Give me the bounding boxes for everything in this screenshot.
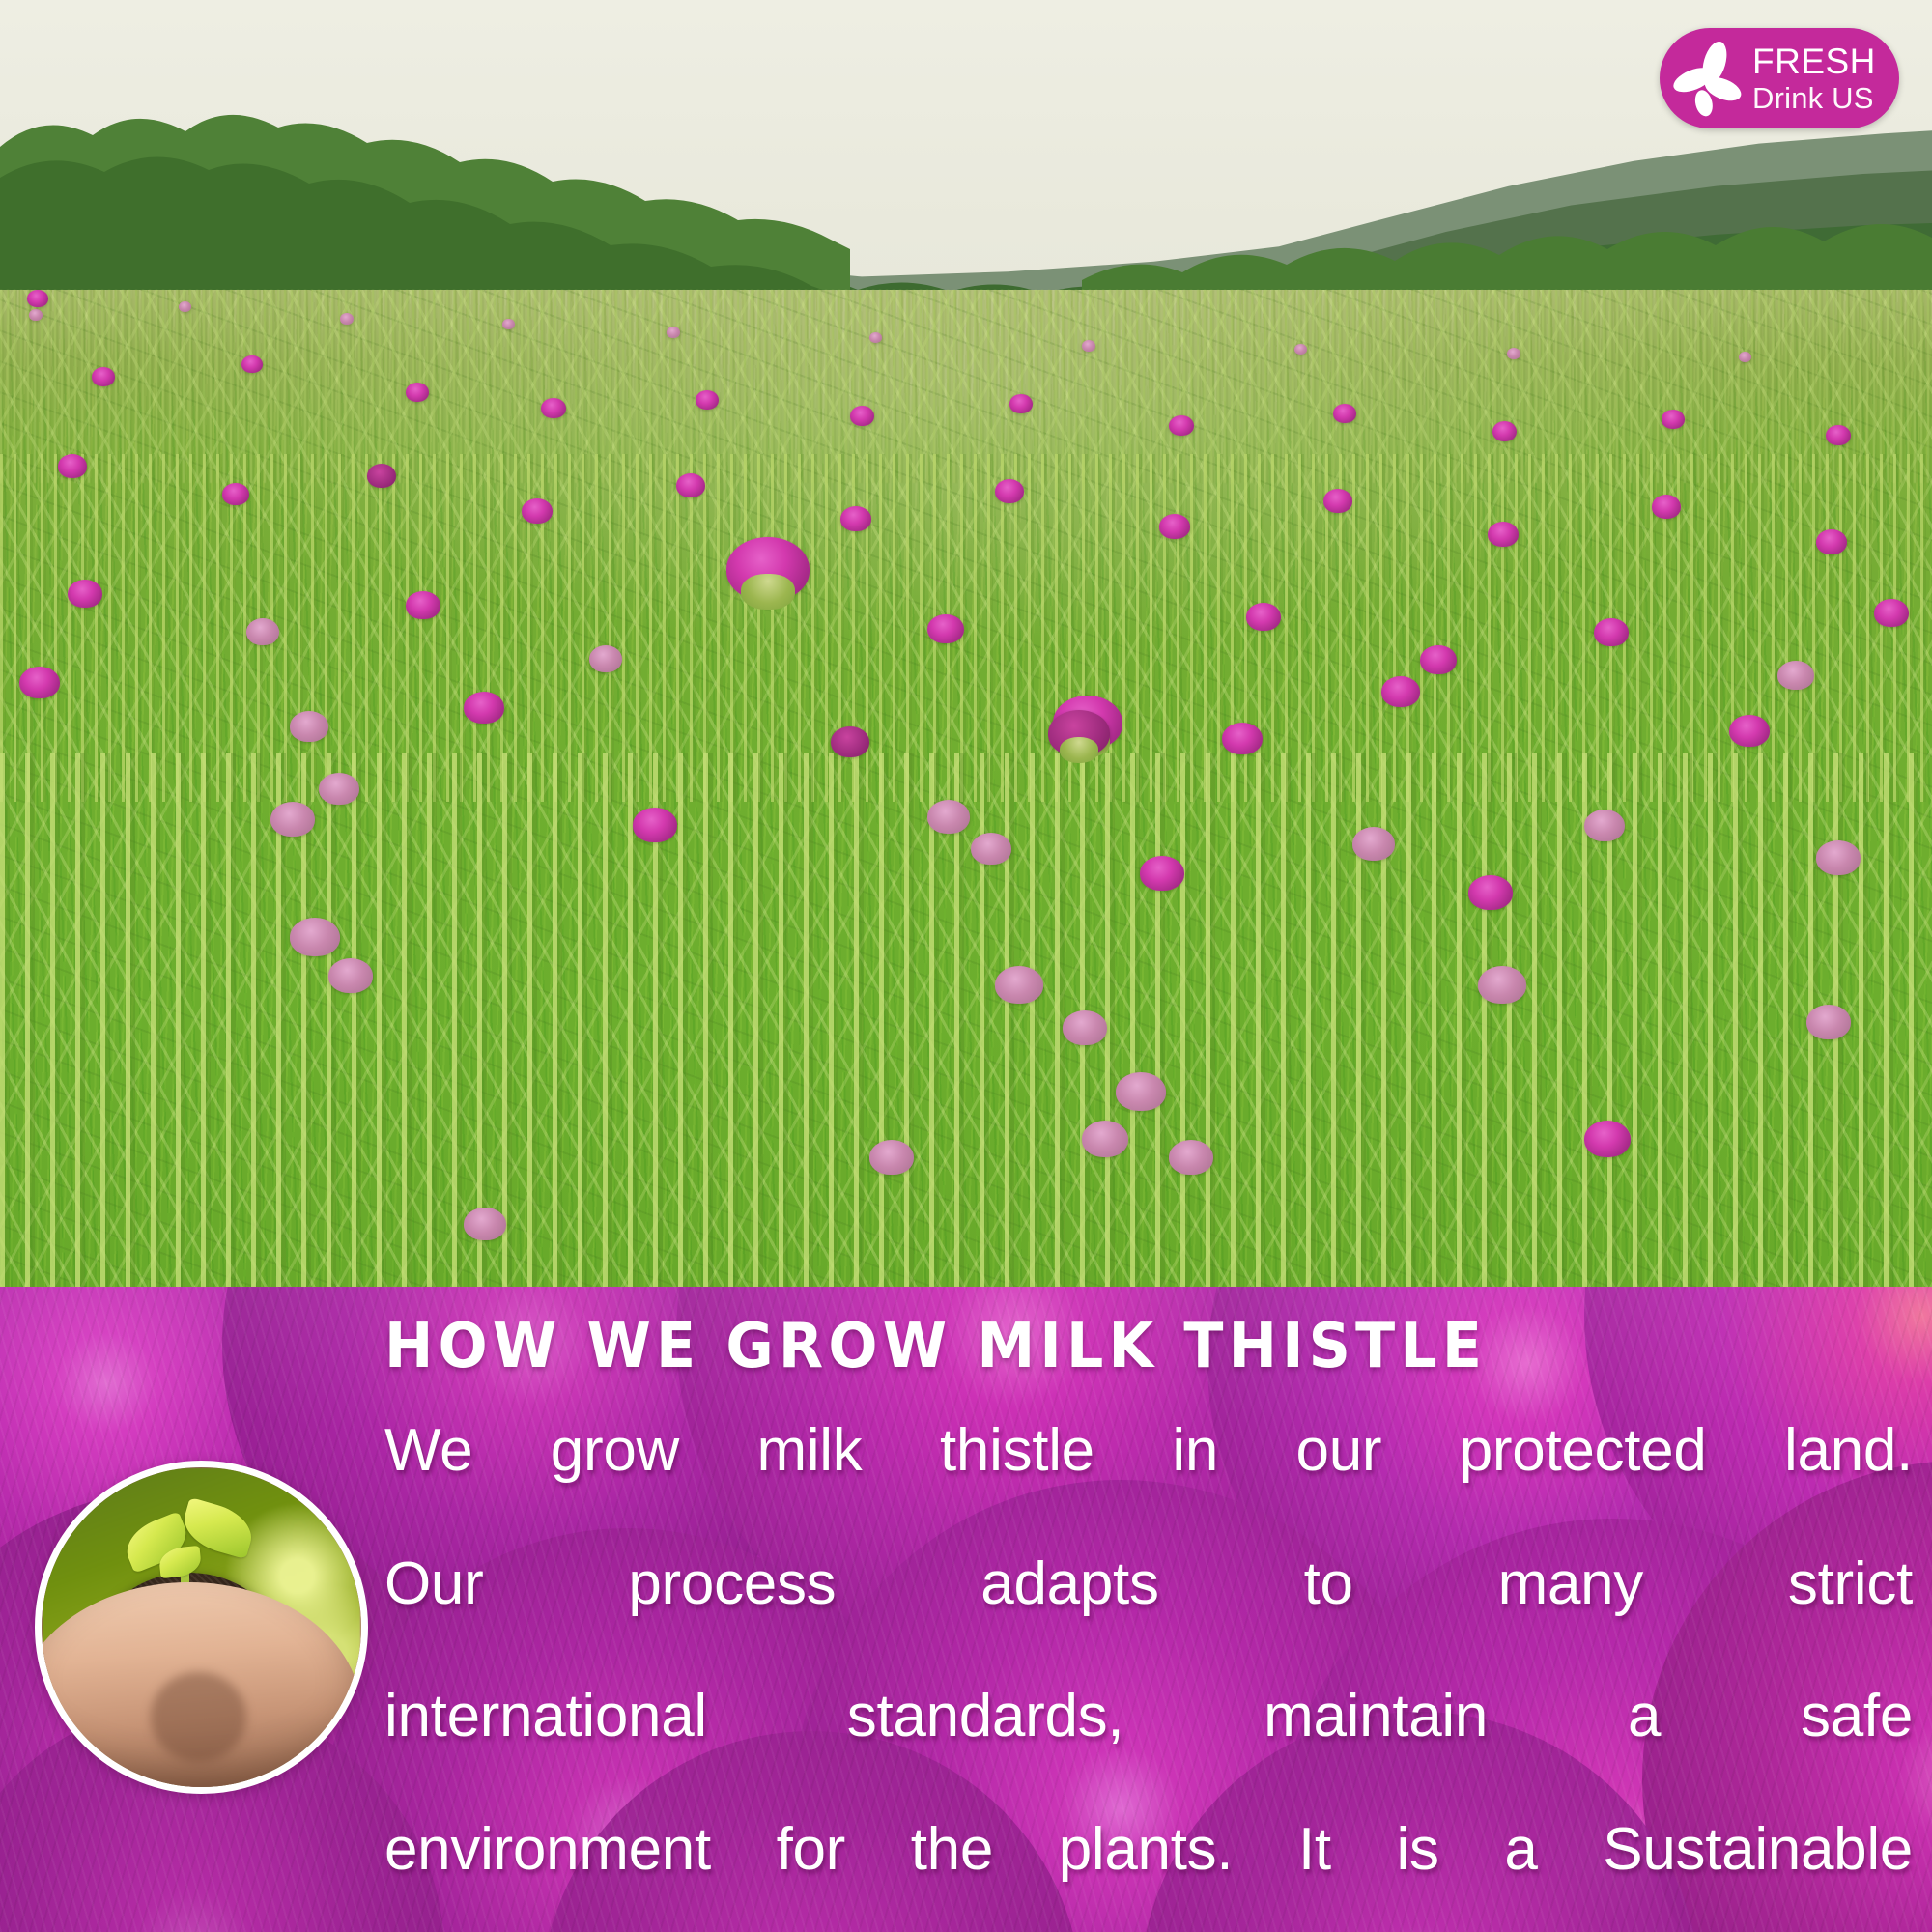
- thistle-bloom: [1159, 514, 1190, 539]
- thistle-bloom: [1009, 394, 1033, 413]
- thistle-bloom: [522, 498, 553, 524]
- four-petal-leaf-icon: [1667, 37, 1750, 120]
- thistle-bloom: [464, 692, 504, 724]
- thistle-bloom: [1806, 1005, 1851, 1039]
- thistle-bloom: [290, 711, 328, 742]
- thistle-bloom: [869, 1140, 914, 1175]
- thistle-bloom: [1777, 661, 1814, 690]
- thistle-bloom: [1333, 404, 1356, 423]
- page-title: HOW WE GROW MILK THISTLE: [384, 1316, 1819, 1378]
- thistle-bloom: [676, 473, 705, 497]
- thistle-bloom: [1082, 340, 1095, 352]
- thistle-bloom: [1874, 599, 1909, 627]
- thistle-bloom: [222, 483, 249, 505]
- thistle-bloom: [1116, 1072, 1166, 1111]
- field-leaf-texture: [0, 290, 1932, 1288]
- thistle-bloom: [927, 800, 970, 834]
- hand-shadow: [151, 1672, 246, 1762]
- thistle-bloom: [1352, 827, 1395, 861]
- thistle-bloom: [1169, 415, 1194, 436]
- thistle-bloom: [831, 726, 869, 757]
- thistle-bloom: [1488, 522, 1519, 547]
- thistle-bloom: [995, 479, 1024, 503]
- thistle-bloom: [502, 319, 515, 329]
- thistle-bloom: [541, 398, 566, 418]
- thistle-bloom: [1729, 715, 1770, 747]
- thistle-bloom: [179, 301, 191, 312]
- thistle-bloom: [464, 1207, 506, 1240]
- thistle-bloom: [1584, 810, 1625, 841]
- thistle-bloom: [1323, 489, 1352, 513]
- thistle-bloom: [406, 383, 429, 402]
- body-line: We grow milk thistle in our protected la…: [384, 1418, 1913, 1551]
- thistle-bloom-hero: [726, 537, 810, 601]
- thistle-bloom: [995, 966, 1043, 1004]
- thistle-bloom: [1478, 966, 1526, 1004]
- thistle-bloom: [68, 580, 102, 608]
- hands-holding-seedling-photo: [35, 1461, 368, 1794]
- body-line: international standards, maintain a safe: [384, 1684, 1913, 1817]
- thistle-bloom: [696, 390, 719, 410]
- thistle-bloom: [633, 808, 677, 842]
- thistle-bloom: [971, 833, 1011, 865]
- thistle-bloom: [246, 618, 279, 645]
- thistle-bloom: [1492, 421, 1517, 441]
- thistle-bloom: [1063, 1010, 1107, 1045]
- thistle-bloom: [667, 327, 680, 338]
- thistle-bloom: [328, 958, 373, 993]
- thistle-bloom: [1816, 529, 1847, 554]
- thistle-bloom: [1594, 618, 1629, 646]
- thistle-bloom: [850, 406, 874, 426]
- thistle-bloom: [1294, 344, 1307, 355]
- thistle-bloom: [1420, 645, 1457, 674]
- thistle-bloom: [1662, 410, 1685, 429]
- thistle-bloom: [1468, 875, 1513, 910]
- thistle-bloom: [29, 309, 43, 321]
- thistle-bloom: [367, 464, 396, 488]
- poster-canvas: FRESH Drink US: [0, 0, 1932, 1932]
- thistle-bloom: [319, 773, 359, 805]
- thistle-bloom: [92, 367, 115, 386]
- thistle-bloom: [927, 614, 964, 643]
- fresh-drink-us-logo[interactable]: FRESH Drink US: [1660, 28, 1899, 128]
- thistle-bloom: [58, 454, 87, 478]
- thistle-bloom: [406, 591, 440, 619]
- thistle-bloom: [840, 506, 871, 531]
- thistle-bloom: [1381, 676, 1420, 707]
- thistle-bloom: [1082, 1121, 1128, 1157]
- body-line: Our process adapts to many strict: [384, 1551, 1913, 1685]
- thistle-bloom: [1507, 348, 1520, 359]
- thistle-bloom: [869, 332, 882, 343]
- thistle-bloom: [1584, 1121, 1631, 1157]
- thistle-bloom: [589, 645, 622, 672]
- thistle-bloom: [270, 802, 315, 837]
- logo-line-fresh: FRESH: [1752, 43, 1876, 79]
- thistle-bloom: [1048, 710, 1110, 756]
- thistle-bloom: [1246, 603, 1281, 631]
- thistle-bloom: [27, 290, 48, 307]
- logo-line-drink-us: Drink US: [1752, 83, 1876, 113]
- thistle-bloom: [340, 313, 354, 325]
- thistle-bloom: [1652, 495, 1681, 519]
- body-line: environment for the plants. It is a Sust…: [384, 1817, 1913, 1932]
- thistle-bloom: [1826, 425, 1851, 445]
- thistle-bloom: [290, 918, 340, 956]
- thistle-bloom: [19, 667, 60, 698]
- left-foreground-trees: [0, 93, 850, 315]
- thistle-bloom: [1816, 840, 1861, 875]
- logo-wordmark: FRESH Drink US: [1752, 43, 1876, 113]
- thistle-bloom: [1169, 1140, 1213, 1175]
- thistle-bloom: [1739, 352, 1751, 362]
- thistle-bloom: [1222, 723, 1263, 754]
- body-copy: We grow milk thistle in our protected la…: [384, 1418, 1913, 1932]
- thistle-bloom: [1140, 856, 1184, 891]
- milk-thistle-field-photo: FRESH Drink US: [0, 0, 1932, 1288]
- thistle-bloom: [241, 355, 263, 373]
